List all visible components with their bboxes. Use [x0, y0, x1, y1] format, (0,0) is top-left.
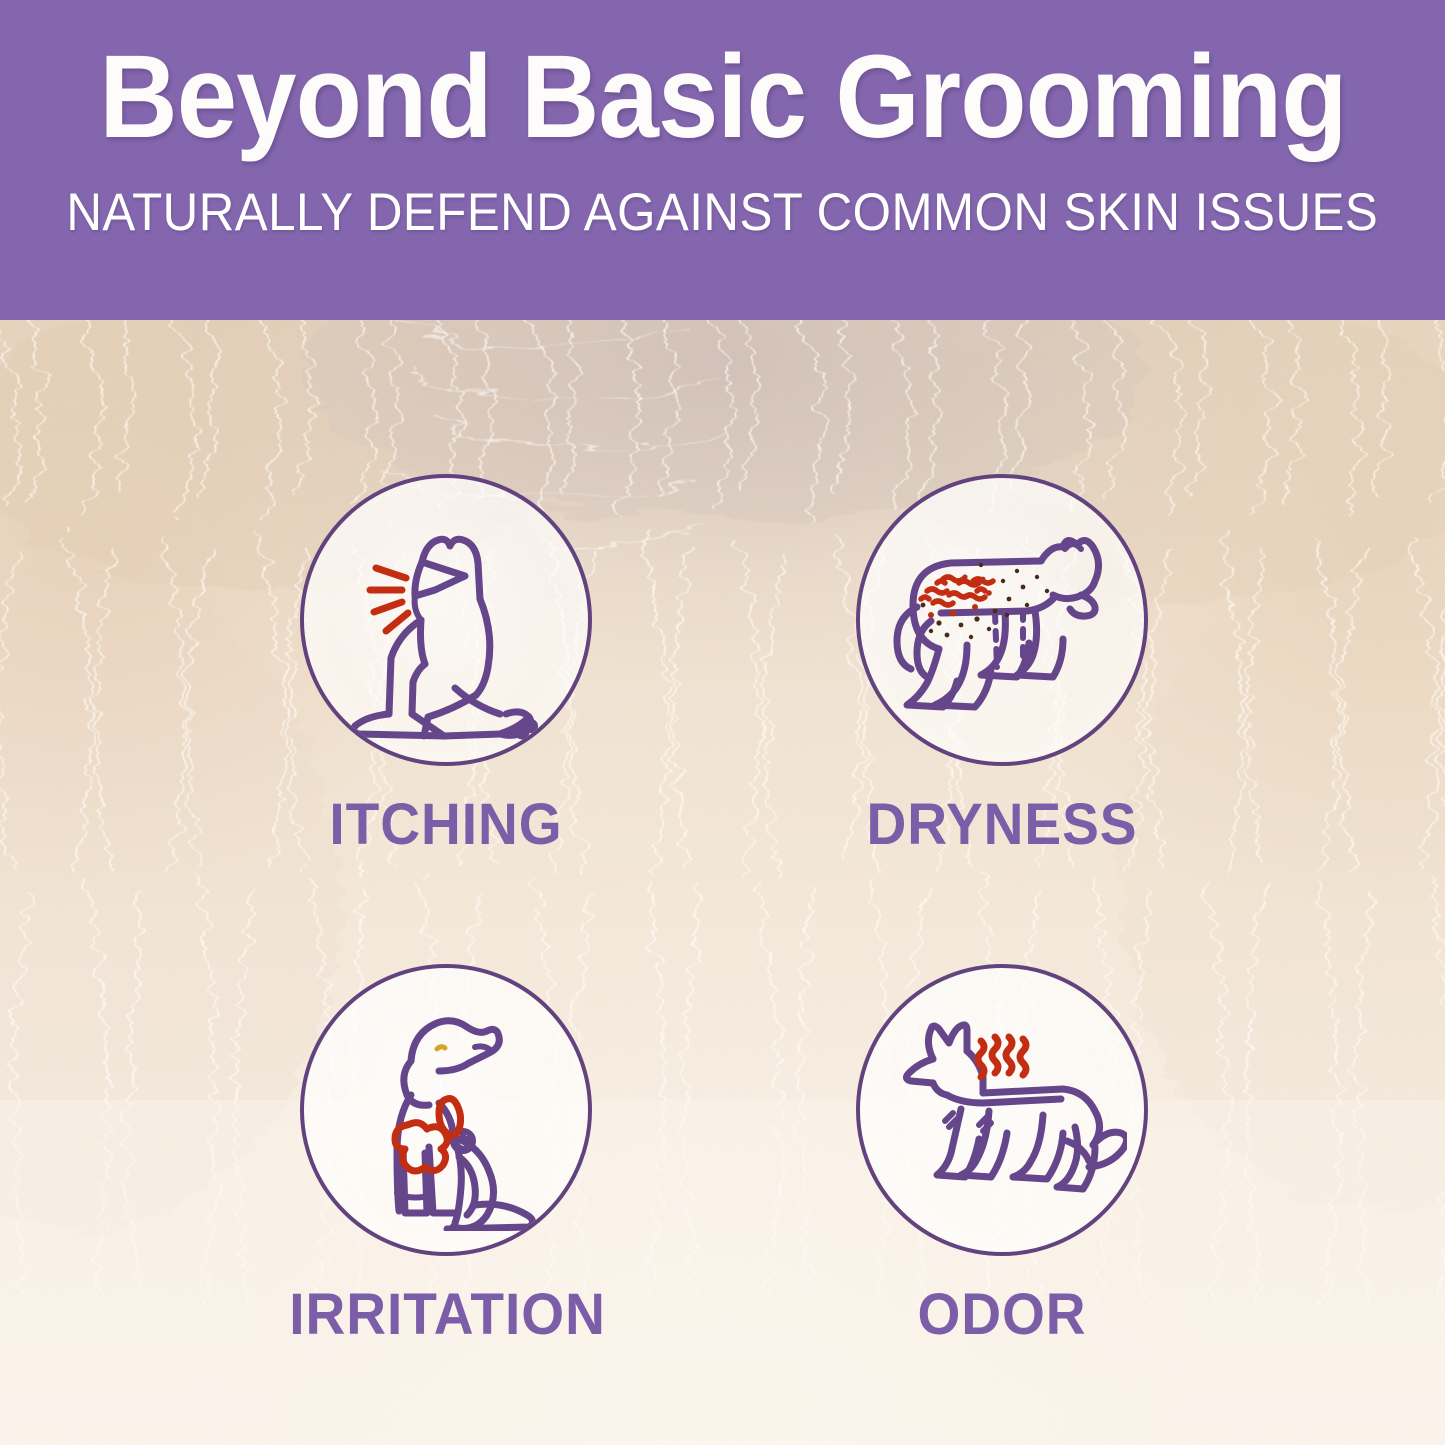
icon-circle-odor [856, 964, 1148, 1256]
dog-odor-icon [877, 985, 1127, 1235]
benefit-label-irritation: IRRITATION [289, 1286, 603, 1344]
product-infographic: Beyond Basic Grooming NATURALLY DEFEND A… [0, 0, 1445, 1445]
benefit-label-dryness: DRYNESS [845, 796, 1159, 854]
page-subtitle: NATURALLY DEFEND AGAINST COMMON SKIN ISS… [67, 182, 1379, 243]
benefit-item-dryness[interactable]: DRYNESS [837, 474, 1167, 854]
icon-circle-itching [300, 474, 592, 766]
fur-background [0, 320, 1445, 1445]
benefit-item-irritation[interactable]: IRRITATION [281, 964, 611, 1344]
benefit-label-odor: ODOR [845, 1286, 1159, 1344]
dog-scratching-icon [326, 500, 566, 740]
icon-circle-dryness [856, 474, 1148, 766]
dog-dry-flaky-skin-icon [877, 495, 1127, 745]
page-title: Beyond Basic Grooming [99, 38, 1346, 156]
benefit-item-odor[interactable]: ODOR [837, 964, 1167, 1344]
icon-circle-irritation [300, 964, 592, 1256]
benefit-item-itching[interactable]: ITCHING [281, 474, 611, 854]
dog-irritated-skin-icon [325, 989, 567, 1231]
fur-texture [0, 320, 1445, 1445]
benefit-label-itching: ITCHING [289, 796, 603, 854]
header-banner: Beyond Basic Grooming NATURALLY DEFEND A… [0, 0, 1445, 320]
